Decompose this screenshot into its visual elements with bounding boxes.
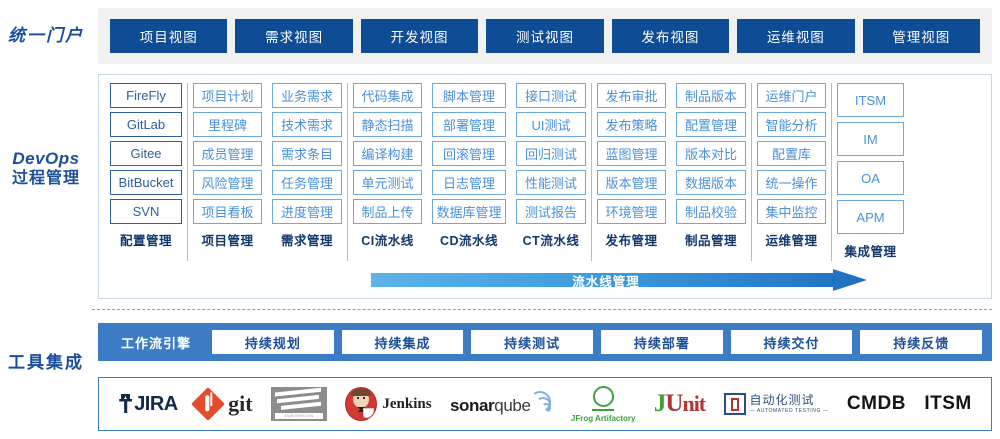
automated-testing-wordmark-cn: 自动化测试 xyxy=(750,394,829,406)
workflow-stage-2[interactable]: 持续测试 xyxy=(471,330,593,354)
git-wordmark: git xyxy=(228,391,252,417)
capability-cell[interactable]: 脚本管理 xyxy=(432,83,506,108)
devops-architecture-diagram: 统一门户 DevOps 过程管理 工具集成 项目视图需求视图开发视图测试视图发布… xyxy=(0,0,1000,439)
jira-wordmark: JIRA xyxy=(134,393,178,416)
junit-letter-j: J xyxy=(654,390,666,417)
capability-cell[interactable]: Gitee xyxy=(110,141,182,166)
capability-cell[interactable]: 代码集成 xyxy=(353,83,422,108)
jfrog-bar-icon xyxy=(592,409,614,411)
capability-column-title: CT流水线 xyxy=(516,230,586,249)
capability-column-title: CI流水线 xyxy=(353,230,422,249)
itsm-wordmark: ITSM xyxy=(924,393,971,415)
section-divider xyxy=(92,309,992,310)
capability-column-2: 业务需求技术需求需求条目任务管理进度管理需求管理 xyxy=(267,83,347,261)
devops-process-panel: FireFlyGitLabGiteeBitBucketSVN配置管理项目计划里程… xyxy=(98,74,992,299)
git-logo: git xyxy=(196,382,252,426)
workflow-engine-title: 工作流引擎 xyxy=(104,333,208,352)
capability-cell[interactable]: 任务管理 xyxy=(272,170,342,195)
pipeline-arrow-wrap: 流水线管理 xyxy=(99,267,991,297)
jira-mark-icon xyxy=(118,394,133,414)
capability-cell[interactable]: 风险管理 xyxy=(193,170,262,195)
capability-cell[interactable]: 日志管理 xyxy=(432,170,506,195)
jenkins-logo: Jenkins xyxy=(345,382,431,426)
rail-label-devops: DevOps 过程管理 xyxy=(0,148,92,189)
capability-cell[interactable]: 测试报告 xyxy=(516,199,586,224)
capability-column-title: CD流水线 xyxy=(432,230,506,249)
junit-wordmark-rest: nit xyxy=(682,391,705,416)
capability-column-4: 脚本管理部署管理回滚管理日志管理数据库管理CD流水线 xyxy=(427,83,511,261)
capability-cell[interactable]: 进度管理 xyxy=(272,199,342,224)
capability-cell[interactable]: 项目计划 xyxy=(193,83,262,108)
capability-cell[interactable]: 里程碑 xyxy=(193,112,262,137)
capability-cell[interactable]: BitBucket xyxy=(110,170,182,195)
capability-cell[interactable]: 制品上传 xyxy=(353,199,422,224)
capability-cell[interactable]: 版本管理 xyxy=(597,170,666,195)
capability-column-8: 运维门户智能分析配置库统一操作集中监控运维管理 xyxy=(751,83,831,261)
automated-testing-wordmark-en: — AUTOMATED TESTING — xyxy=(750,408,829,414)
workflow-stage-0[interactable]: 持续规划 xyxy=(212,330,334,354)
capability-cell[interactable]: 发布策略 xyxy=(597,112,666,137)
capability-cell[interactable]: 回滚管理 xyxy=(432,141,506,166)
rail-label-devops-cn: 过程管理 xyxy=(0,169,92,189)
capability-column-title: 发布管理 xyxy=(597,230,666,249)
capability-cell[interactable]: 配置管理 xyxy=(676,112,746,137)
capability-cell[interactable]: 蓝图管理 xyxy=(597,141,666,166)
portal-view-button-5[interactable]: 运维视图 xyxy=(737,19,854,53)
portal-view-button-1[interactable]: 需求视图 xyxy=(235,19,352,53)
capability-cell[interactable]: 性能测试 xyxy=(516,170,586,195)
jfrog-ring-icon xyxy=(593,386,614,407)
capability-columns: FireFlyGitLabGiteeBitBucketSVN配置管理项目计划里程… xyxy=(99,75,991,261)
capability-cell[interactable]: 发布审批 xyxy=(597,83,666,108)
sonarqube-wordmark-light: qube xyxy=(494,396,530,416)
jfrog-artifactory-logo: JFrog Artifactory xyxy=(571,382,636,426)
capability-cell[interactable]: APM xyxy=(837,200,904,234)
capability-cell[interactable]: 技术需求 xyxy=(272,112,342,137)
capability-column-title: 需求管理 xyxy=(272,230,342,249)
capability-cell[interactable]: 环境管理 xyxy=(597,199,666,224)
subversion-mark-icon xyxy=(271,387,327,421)
capability-column-title: 配置管理 xyxy=(110,230,182,249)
capability-cell[interactable]: FireFly xyxy=(110,83,182,108)
capability-cell[interactable]: 成员管理 xyxy=(193,141,262,166)
capability-cell[interactable]: 统一操作 xyxy=(757,170,826,195)
capability-cell[interactable]: IM xyxy=(837,122,904,156)
workflow-stage-4[interactable]: 持续交付 xyxy=(731,330,853,354)
capability-cell[interactable]: 项目看板 xyxy=(193,199,262,224)
portal-view-button-2[interactable]: 开发视图 xyxy=(361,19,478,53)
capability-cell[interactable]: 配置库 xyxy=(757,141,826,166)
portal-view-button-4[interactable]: 发布视图 xyxy=(612,19,729,53)
capability-column-title: 项目管理 xyxy=(193,230,262,249)
capability-cell[interactable]: 数据库管理 xyxy=(432,199,506,224)
pipeline-arrow-label: 流水线管理 xyxy=(572,271,640,290)
workflow-engine-band: 工作流引擎 持续规划持续集成持续测试持续部署持续交付持续反馈 xyxy=(98,323,992,361)
workflow-stage-5[interactable]: 持续反馈 xyxy=(860,330,982,354)
sonarqube-logo: sonarqube xyxy=(450,382,553,426)
rail-label-devops-en: DevOps xyxy=(0,148,92,169)
capability-cell[interactable]: 制品版本 xyxy=(676,83,746,108)
capability-column-0: FireFlyGitLabGiteeBitBucketSVN配置管理 xyxy=(105,83,187,261)
portal-view-button-3[interactable]: 测试视图 xyxy=(486,19,603,53)
capability-cell[interactable]: 制品校验 xyxy=(676,199,746,224)
capability-cell[interactable]: 接口测试 xyxy=(516,83,586,108)
capability-column-5: 接口测试UI测试回归测试性能测试测试报告CT流水线 xyxy=(511,83,591,261)
itsm-logo: ITSM xyxy=(924,382,971,426)
workflow-stage-1[interactable]: 持续集成 xyxy=(342,330,464,354)
jenkins-wordmark: Jenkins xyxy=(382,396,431,413)
capability-column-9: ITSMIMOAAPM集成管理 xyxy=(831,83,909,261)
portal-view-band: 项目视图需求视图开发视图测试视图发布视图运维视图管理视图 xyxy=(98,8,992,64)
cmdb-logo: CMDB xyxy=(847,382,906,426)
rail-label-portal: 统一门户 xyxy=(0,25,92,46)
cmdb-wordmark: CMDB xyxy=(847,393,906,415)
capability-column-title: 运维管理 xyxy=(757,230,826,249)
capability-cell[interactable]: 智能分析 xyxy=(757,112,826,137)
pipeline-arrow: 流水线管理 xyxy=(371,269,867,291)
capability-cell[interactable]: GitLab xyxy=(110,112,182,137)
rail-label-tools: 工具集成 xyxy=(0,352,92,373)
capability-cell[interactable]: 编译构建 xyxy=(353,141,422,166)
jira-logo: JIRA xyxy=(118,382,178,426)
capability-cell[interactable]: 集中监控 xyxy=(757,199,826,224)
portal-view-button-6[interactable]: 管理视图 xyxy=(863,19,980,53)
capability-cell[interactable]: ITSM xyxy=(837,83,904,117)
automated-testing-logo: 自动化测试— AUTOMATED TESTING — xyxy=(724,382,829,426)
junit-logo: JUnit xyxy=(654,382,705,426)
capability-cell[interactable]: 需求条目 xyxy=(272,141,342,166)
capability-cell[interactable]: 单元测试 xyxy=(353,170,422,195)
capability-cell[interactable]: 部署管理 xyxy=(432,112,506,137)
capability-cell[interactable]: 回归测试 xyxy=(516,141,586,166)
sonarqube-waves-icon xyxy=(533,393,553,413)
capability-cell[interactable]: 版本对比 xyxy=(676,141,746,166)
capability-cell[interactable]: 运维门户 xyxy=(757,83,826,108)
capability-column-7: 制品版本配置管理版本对比数据版本制品校验制品管理 xyxy=(671,83,751,261)
capability-cell[interactable]: 业务需求 xyxy=(272,83,342,108)
git-diamond-icon xyxy=(191,387,225,421)
capability-cell[interactable]: 静态扫描 xyxy=(353,112,422,137)
capability-cell[interactable]: OA xyxy=(837,161,904,195)
jenkins-butler-icon xyxy=(345,387,377,421)
capability-column-title: 制品管理 xyxy=(676,230,746,249)
subversion-logo xyxy=(271,382,327,426)
capability-cell[interactable]: SVN xyxy=(110,199,182,224)
capability-column-3: 代码集成静态扫描编译构建单元测试制品上传CI流水线 xyxy=(347,83,427,261)
capability-column-1: 项目计划里程碑成员管理风险管理项目看板项目管理 xyxy=(187,83,267,261)
capability-cell[interactable]: UI测试 xyxy=(516,112,586,137)
capability-cell[interactable]: 数据版本 xyxy=(676,170,746,195)
jfrog-wordmark: JFrog Artifactory xyxy=(571,414,636,423)
portal-view-button-0[interactable]: 项目视图 xyxy=(110,19,227,53)
capability-column-6: 发布审批发布策略蓝图管理版本管理环境管理发布管理 xyxy=(591,83,671,261)
sonarqube-wordmark-bold: sonar xyxy=(450,396,494,416)
tool-logo-strip: JIRAgitJenkinssonarqubeJFrog Artifactory… xyxy=(98,377,992,431)
junit-letter-u: U xyxy=(665,390,682,417)
workflow-stage-3[interactable]: 持续部署 xyxy=(601,330,723,354)
capability-column-title: 集成管理 xyxy=(837,241,904,260)
automated-testing-mark-icon xyxy=(724,393,746,415)
